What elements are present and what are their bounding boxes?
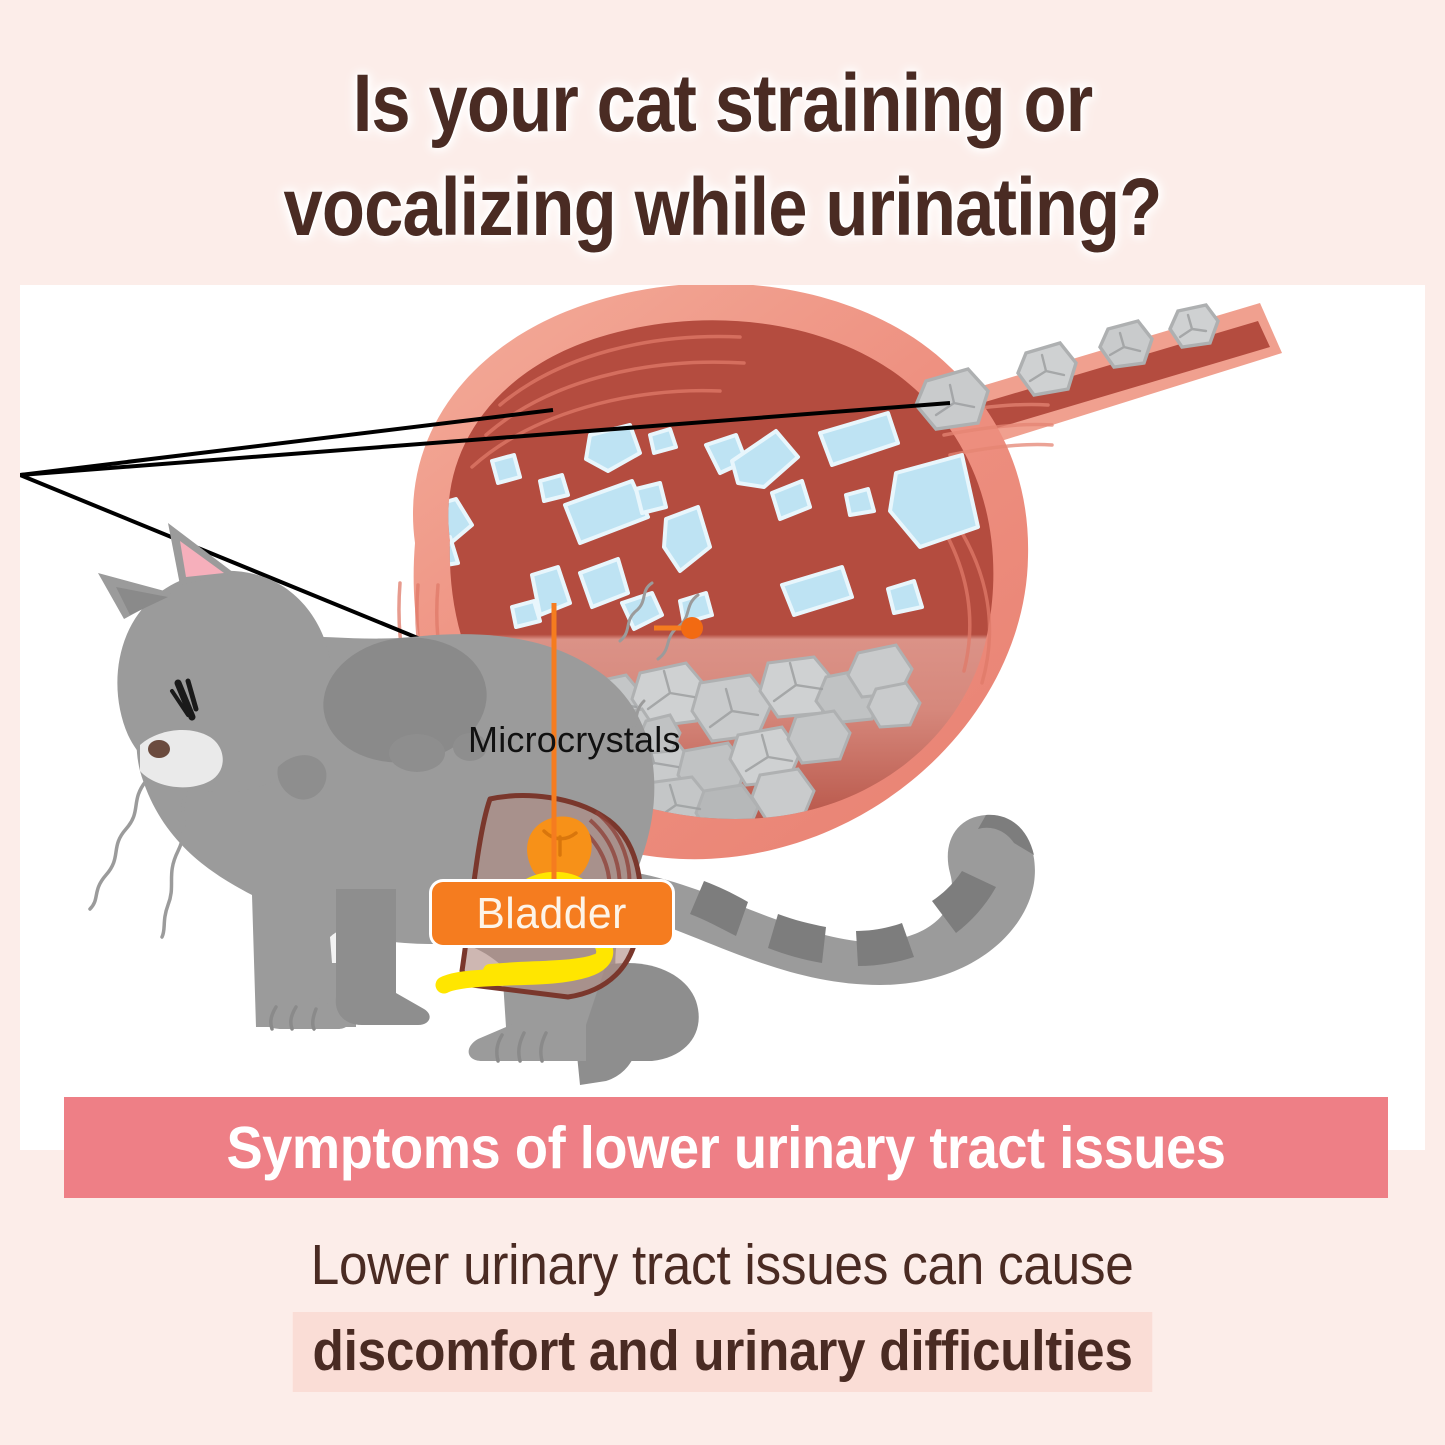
symptoms-banner-text: Symptoms of lower urinary tract issues: [226, 1114, 1225, 1182]
page-title: Is your cat straining or vocalizing whil…: [101, 52, 1344, 260]
urethra-stone: [1100, 321, 1152, 367]
subcopy-block: Lower urinary tract issues can cause dis…: [0, 1232, 1445, 1392]
urethra-stone: [1018, 343, 1076, 395]
cat-ear-inner-pink: [180, 541, 224, 577]
anatomy-illustration: [20, 285, 1425, 1150]
symptoms-banner: Symptoms of lower urinary tract issues: [64, 1097, 1388, 1198]
infographic-canvas: Is your cat straining or vocalizing whil…: [0, 0, 1445, 1445]
bladder-callout-label: Bladder: [477, 889, 628, 939]
urethra-stone: [1170, 305, 1218, 347]
microcrystals-label: Microcrystals: [468, 719, 681, 761]
subcopy-line-2: discomfort and urinary difficulties: [293, 1312, 1153, 1392]
bladder-callout: Bladder: [432, 882, 672, 945]
subcopy-line-1: Lower urinary tract issues can cause: [311, 1232, 1134, 1298]
cat-muzzle: [140, 730, 223, 787]
cat-patch-small: [389, 734, 445, 772]
illustration-panel: Microcrystals Bladder: [20, 285, 1425, 1150]
cat-nose: [148, 740, 170, 758]
